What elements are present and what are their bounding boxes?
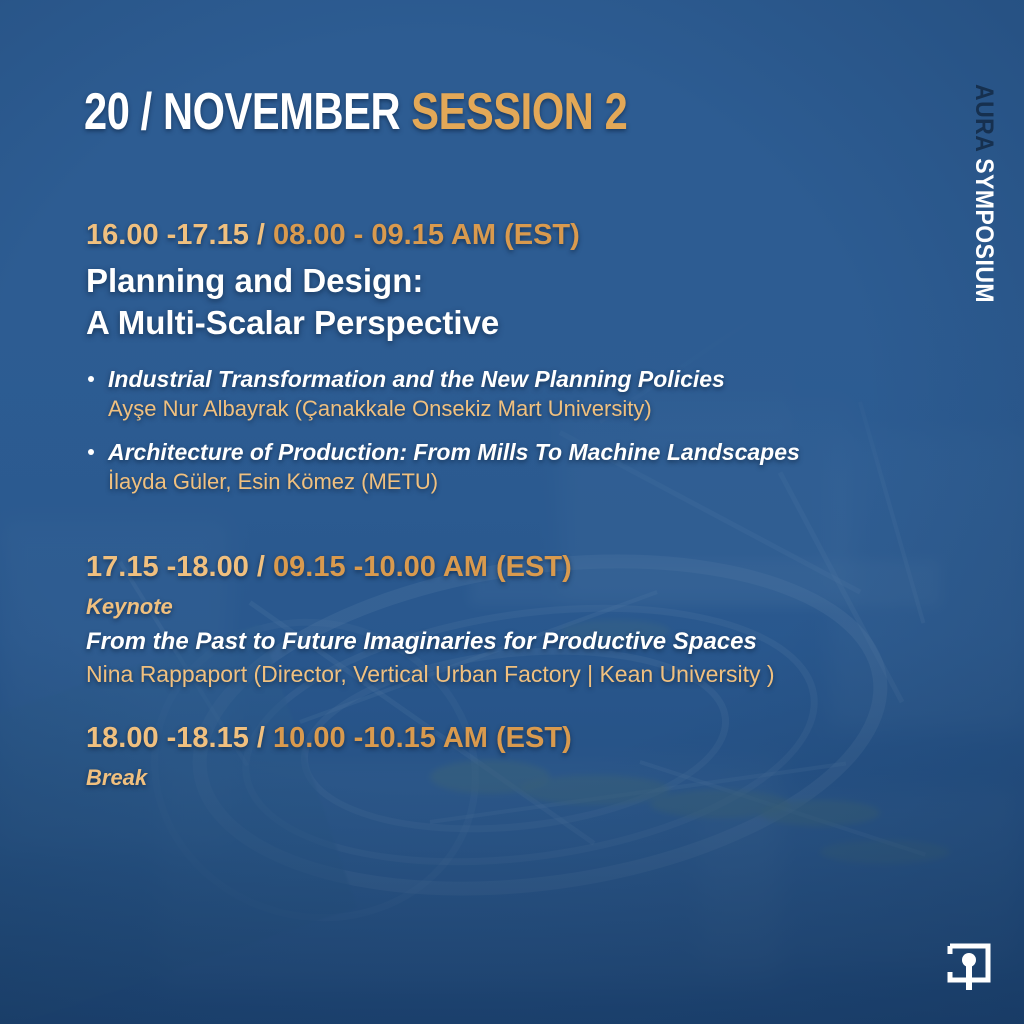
header-date: 20 / NOVEMBER: [84, 83, 411, 141]
session-3-time-local: 18.00 -18.15 /: [86, 722, 273, 754]
session-3-time-est: 10.00 -10.15 AM (EST): [273, 722, 572, 754]
session-2-time: 17.15 -18.00 / 09.15 -10.00 AM (EST): [86, 551, 966, 583]
session-1-time-est: 08.00 - 09.15 AM (EST): [273, 219, 580, 251]
session-2-time-local: 17.15 -18.00 /: [86, 551, 273, 583]
talk-speakers: İlayda Güler, Esin Kömez (METU): [108, 468, 946, 497]
keynote-kicker: Keynote: [86, 594, 966, 620]
break-label: Break: [86, 765, 786, 791]
session-block-1: 16.00 -17.15 / 08.00 - 09.15 AM (EST) Pl…: [86, 219, 946, 511]
session-block-2: 17.15 -18.00 / 09.15 -10.00 AM (EST) Key…: [86, 551, 966, 690]
aura-logo-icon: [946, 940, 994, 992]
header-session: SESSION 2: [411, 83, 627, 141]
brand-symposium: SYMPOSIUM: [970, 158, 998, 303]
list-item: Architecture of Production: From Mills T…: [86, 438, 946, 497]
brand-vertical-label: AURA SYMPOSIUM: [971, 84, 996, 303]
talk-title: Industrial Transformation and the New Pl…: [108, 365, 946, 394]
list-item: Industrial Transformation and the New Pl…: [86, 365, 946, 424]
symposium-poster: 20 / NOVEMBER SESSION 2 AURA SYMPOSIUM 1…: [0, 0, 1024, 1024]
session-1-title: Planning and Design: A Multi-Scalar Pers…: [86, 260, 946, 343]
session-3-time: 18.00 -18.15 / 10.00 -10.15 AM (EST): [86, 722, 786, 754]
session-1-talk-list: Industrial Transformation and the New Pl…: [86, 365, 946, 497]
talk-title: Architecture of Production: From Mills T…: [108, 438, 946, 467]
session-2-time-est: 09.15 -10.00 AM (EST): [273, 551, 572, 583]
talk-speakers: Ayşe Nur Albayrak (Çanakkale Onsekiz Mar…: [108, 395, 946, 424]
session-1-title-line1: Planning and Design:: [86, 260, 946, 301]
brand-aura: AURA: [970, 84, 998, 158]
session-1-time-local: 16.00 -17.15 /: [86, 219, 273, 251]
keynote-title: From the Past to Future Imaginaries for …: [86, 627, 966, 657]
session-block-3: 18.00 -18.15 / 10.00 -10.15 AM (EST) Bre…: [86, 722, 786, 791]
session-1-time: 16.00 -17.15 / 08.00 - 09.15 AM (EST): [86, 219, 946, 251]
page-title: 20 / NOVEMBER SESSION 2: [84, 86, 627, 138]
session-1-title-line2: A Multi-Scalar Perspective: [86, 302, 946, 343]
bullet-dot-icon: [88, 449, 94, 455]
bullet-dot-icon: [88, 376, 94, 382]
keynote-speaker: Nina Rappaport (Director, Vertical Urban…: [86, 660, 966, 690]
